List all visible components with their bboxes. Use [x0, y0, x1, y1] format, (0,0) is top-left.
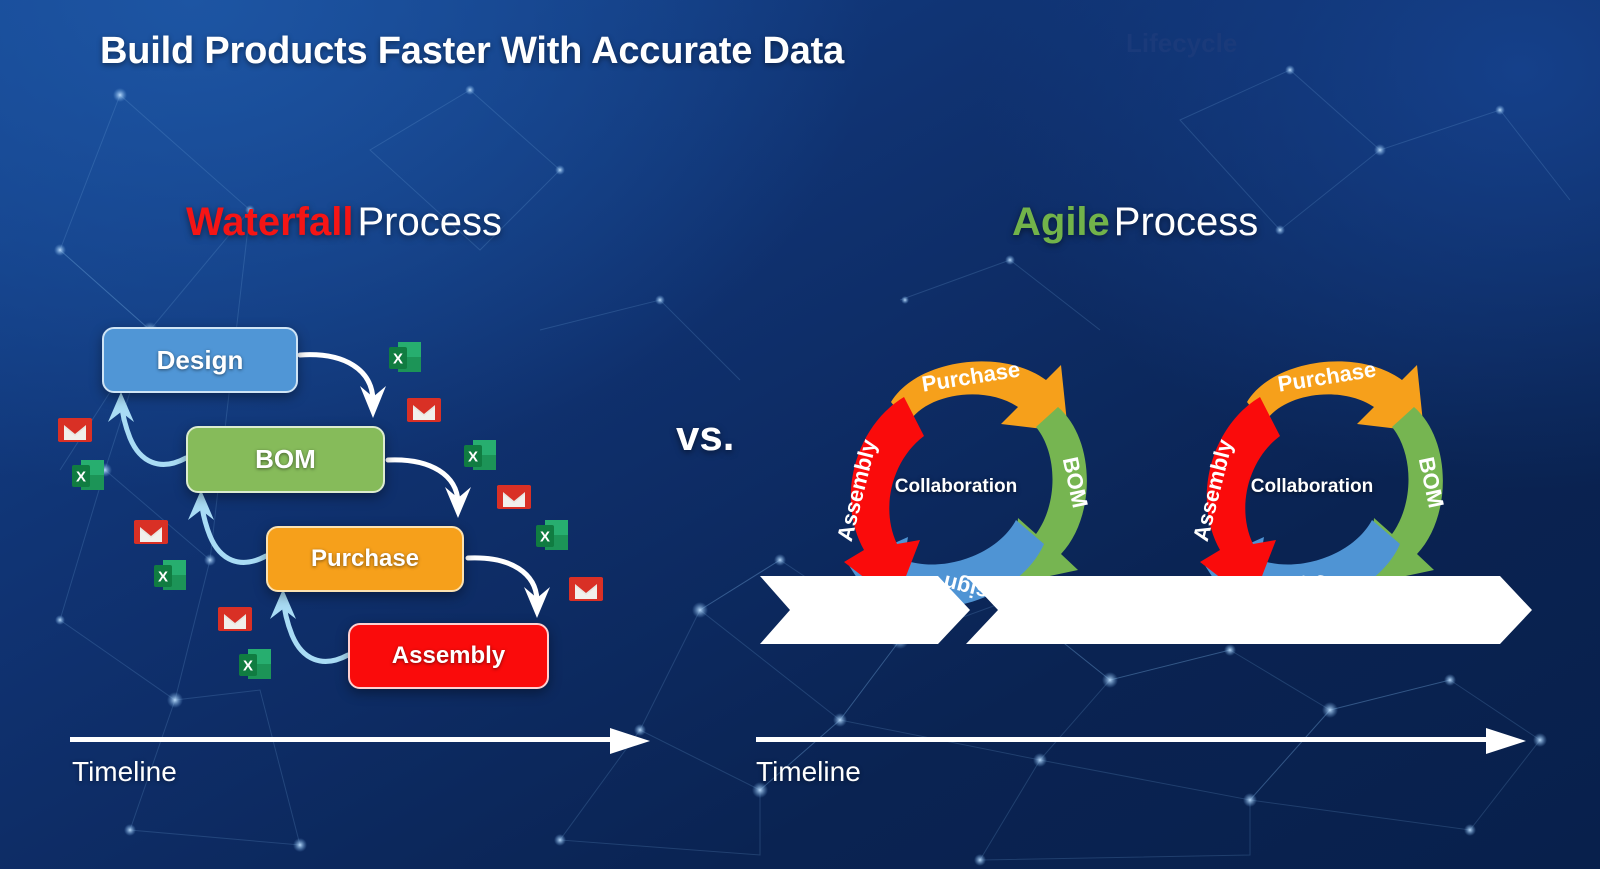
gmail-icon [494, 477, 534, 517]
gmail-icon [131, 512, 171, 552]
excel-icon: X [460, 436, 500, 476]
agile-heading-rest: Process [1114, 200, 1259, 244]
gmail-icon [55, 410, 95, 450]
svg-text:X: X [158, 569, 168, 586]
excel-icon: X [150, 556, 190, 596]
excel-icon: X [68, 456, 108, 496]
excel-icon: X [385, 338, 425, 378]
gmail-icon [566, 569, 606, 609]
lifecycle-label: Lifecycle [1126, 28, 1237, 59]
waterfall-heading-rest: Process [357, 200, 502, 244]
svg-text:X: X [76, 469, 86, 486]
svg-text:X: X [540, 529, 550, 546]
gmail-icon [215, 599, 255, 639]
svg-text:X: X [243, 658, 253, 675]
waterfall-timeline-arrow [70, 728, 650, 754]
lifecycle-chevron-2 [966, 576, 1352, 644]
versus-label: vs. [676, 412, 734, 460]
lifecycle-chevron-3 [1316, 576, 1532, 644]
lifecycle-chevron-band [760, 568, 1540, 652]
waterfall-timeline-caption: Timeline [72, 756, 177, 788]
agile-heading: AgileProcess [1012, 200, 1258, 245]
agile-timeline-arrow [756, 728, 1526, 754]
lifecycle-chevron-1 [760, 576, 970, 644]
waterfall-heading-accent: Waterfall [186, 200, 353, 244]
excel-icon: X [235, 645, 275, 685]
waterfall-stage-purchase[interactable]: Purchase [266, 526, 464, 592]
slide-canvas: Build Products Faster With Accurate Data… [0, 0, 1600, 869]
agile-heading-accent: Agile [1012, 200, 1110, 244]
excel-icon: X [532, 516, 572, 556]
gmail-icon [404, 390, 444, 430]
waterfall-stage-assembly[interactable]: Assembly [348, 623, 549, 689]
agile-timeline-caption: Timeline [756, 756, 861, 788]
svg-text:X: X [393, 351, 403, 368]
waterfall-heading: WaterfallProcess [186, 200, 502, 245]
page-title: Build Products Faster With Accurate Data [100, 30, 844, 73]
svg-text:X: X [468, 449, 478, 466]
waterfall-stage-bom[interactable]: BOM [186, 426, 385, 493]
waterfall-stage-design[interactable]: Design [102, 327, 298, 393]
